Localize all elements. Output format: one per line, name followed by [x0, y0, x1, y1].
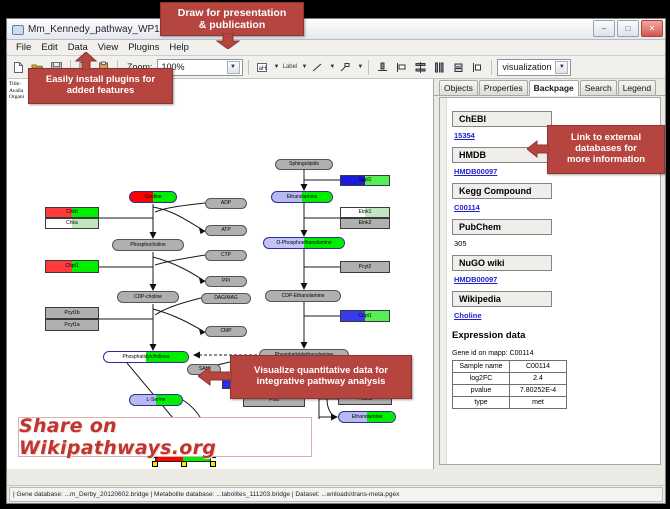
label-dropdown[interactable]: Label [281, 59, 298, 76]
callout-draw-for-publication: Draw for presentation & publication [160, 2, 304, 36]
pathway-info-organism: Organi [9, 94, 24, 101]
node-phosphocholine[interactable]: Phosphocholine [112, 239, 184, 251]
link-wikipedia[interactable]: Choline [454, 311, 652, 320]
gene-box-pcyt2[interactable]: Pcyt2 [340, 261, 390, 273]
table-row: Sample name C00114 [453, 361, 567, 373]
node-o-phosphoethanolamine[interactable]: O-Phosphoethanolamine [263, 237, 345, 249]
share-text: Share on Wikipathways.org [19, 415, 311, 459]
title-bar: Mm_Kennedy_pathway_WP1771_45176.gpml – □… [7, 19, 665, 40]
gene-box-chka[interactable]: Chka [45, 218, 99, 229]
tab-backpage[interactable]: Backpage [529, 80, 579, 96]
callout-install-plugins: Easily install plugins for added feature… [28, 68, 173, 104]
callout-draw-arrow-icon [215, 33, 241, 49]
status-bar: | Gene database: ...m_Derby_20120602.bri… [7, 485, 665, 503]
menu-bar: File Edit Data View Plugins Help [7, 40, 665, 56]
gene-id-line: Gene id on mapp: C00114 [452, 350, 652, 357]
cell-label-sample-name: Sample name [453, 361, 510, 373]
section-header-nugo-wiki: NuGO wiki [452, 255, 552, 271]
new-file-icon[interactable] [10, 59, 27, 76]
node-choline-top[interactable]: Choline [129, 191, 177, 203]
cell-value-pvalue: 7.80252E-4 [510, 385, 567, 397]
node-cdp-ethanolamine[interactable]: CDP-Ethanolamine [265, 290, 341, 302]
expression-data-heading: Expression data [452, 330, 652, 341]
visualization-chevron-down-icon[interactable]: ▼ [555, 61, 568, 74]
same-width-icon[interactable] [450, 59, 467, 76]
expression-data-table: Sample name C00114 log2FC 2.4 pvalue 7.8… [452, 360, 567, 409]
value-pubchem: 305 [454, 239, 652, 248]
pathvisio-icon [11, 23, 23, 35]
node-dag-mag[interactable]: DAG/MAG [201, 293, 251, 304]
section-header-wikipedia: Wikipedia [452, 291, 552, 307]
node-ethanolamine-bottom[interactable]: Ethanolamine [338, 411, 396, 423]
callout-plugins-arrow-icon [74, 52, 98, 70]
callout-visualize-arrow-icon [198, 366, 232, 386]
tab-legend[interactable]: Legend [618, 80, 656, 95]
label-dropdown-chevron-icon[interactable]: ▼ [274, 64, 280, 70]
same-height-icon[interactable] [469, 59, 486, 76]
distribute-horizontal-icon[interactable] [431, 59, 448, 76]
node-ppi[interactable]: PPi [205, 276, 247, 287]
link-kegg-compound[interactable]: C00114 [454, 203, 652, 212]
pathway-info: Title: Availa Organi [9, 81, 24, 101]
maximize-button[interactable]: □ [617, 20, 639, 37]
callout-share-box: Share on Wikipathways.org [18, 417, 312, 457]
node-phosphatidylcholines[interactable]: Phosphatidylcholines [103, 351, 189, 363]
section-header-pubchem: PubChem [452, 219, 552, 235]
screenshot-root: Mm_Kennedy_pathway_WP1771_45176.gpml – □… [0, 0, 670, 509]
section-header-kegg-compound: Kegg Compound [452, 183, 552, 199]
callout-link-arrow-icon [527, 138, 549, 160]
gene-box-chkb[interactable]: Chkb [45, 207, 99, 218]
cell-label-pvalue: pvalue [453, 385, 510, 397]
tab-search[interactable]: Search [580, 80, 617, 95]
gene-box-etnk1[interactable]: Etnk1 [340, 207, 390, 218]
close-button[interactable]: ✕ [641, 20, 663, 37]
text-label-icon[interactable]: aH [254, 59, 271, 76]
callout-visualize-quant-data: Visualize quantitative data for integrat… [230, 355, 412, 399]
chevron-down-icon[interactable]: ▼ [227, 61, 240, 74]
table-row: type met [453, 397, 567, 409]
label-dropdown-chevron2-icon[interactable]: ▼ [301, 64, 307, 70]
gene-box-pcyt1b[interactable]: Pcyt1b [45, 307, 99, 319]
line-icon[interactable] [309, 59, 326, 76]
visualization-combo[interactable]: visualization ▼ [497, 59, 571, 76]
gene-box-etnk2[interactable]: Etnk2 [340, 218, 390, 229]
align-left-icon[interactable] [393, 59, 410, 76]
menu-edit[interactable]: Edit [36, 41, 62, 54]
node-l-serine-left[interactable]: L-Serine [129, 394, 183, 406]
line-chevron-icon[interactable]: ▼ [329, 64, 335, 70]
visualization-value: visualization [502, 62, 551, 72]
receptor-icon[interactable] [337, 59, 354, 76]
receptor-chevron-icon[interactable]: ▼ [357, 64, 363, 70]
cell-value-sample-name: C00114 [510, 361, 567, 373]
gene-box-chpt1[interactable]: Chpt1 [45, 260, 99, 273]
side-panel-tabs: Objects Properties Backpage Search Legen… [434, 79, 665, 96]
node-sphingolipids[interactable]: Sphingolipids [275, 159, 333, 170]
node-cmp[interactable]: CMP [205, 326, 247, 337]
link-nugo-wiki[interactable]: HMDB00097 [454, 275, 652, 284]
node-adp[interactable]: ADP [205, 198, 247, 209]
gene-box-cept1[interactable]: Cept1 [340, 310, 390, 322]
minimize-button[interactable]: – [593, 20, 615, 37]
menu-help[interactable]: Help [164, 41, 194, 54]
node-ethanolamine-top[interactable]: Ethanolamine [271, 191, 333, 203]
node-ctp[interactable]: CTP [205, 250, 247, 261]
align-top-icon[interactable] [374, 59, 391, 76]
backpage-scrollbar[interactable] [440, 98, 447, 464]
section-header-chebi: ChEBI [452, 111, 552, 127]
menu-plugins[interactable]: Plugins [123, 41, 164, 54]
resize-handle-sw[interactable] [152, 461, 158, 467]
tab-objects[interactable]: Objects [439, 80, 478, 95]
gene-box-sgpl1[interactable]: Sgpl1 [340, 175, 390, 186]
table-row: pvalue 7.80252E-4 [453, 385, 567, 397]
label-dropdown-text: Label [283, 64, 298, 70]
svg-text:aH: aH [258, 66, 266, 72]
resize-handle-se[interactable] [210, 461, 216, 467]
callout-link-external-db: Link to external databases for more info… [547, 125, 665, 174]
status-bar-text: | Gene database: ...m_Derby_20120602.bri… [9, 487, 663, 502]
cell-value-log2fc: 2.4 [510, 373, 567, 385]
distribute-vertical-icon[interactable] [412, 59, 429, 76]
gene-box-pcyt1a[interactable]: Pcyt1a [45, 319, 99, 331]
node-atp[interactable]: ATP [205, 225, 247, 236]
menu-file[interactable]: File [11, 41, 36, 54]
pathway-canvas[interactable]: Title: Availa Organi [7, 79, 434, 469]
node-cdp-choline[interactable]: CDP-choline [117, 291, 179, 303]
tab-properties[interactable]: Properties [479, 80, 528, 95]
toolbar-separator-4 [368, 60, 369, 75]
cell-label-log2fc: log2FC [453, 373, 510, 385]
toolbar-separator-3 [248, 60, 249, 75]
resize-handle-s[interactable] [181, 461, 187, 467]
toolbar-separator-5 [491, 60, 492, 75]
cell-label-type: type [453, 397, 510, 409]
cell-value-type: met [510, 397, 567, 409]
window-controls: – □ ✕ [593, 20, 663, 37]
table-row: log2FC 2.4 [453, 373, 567, 385]
